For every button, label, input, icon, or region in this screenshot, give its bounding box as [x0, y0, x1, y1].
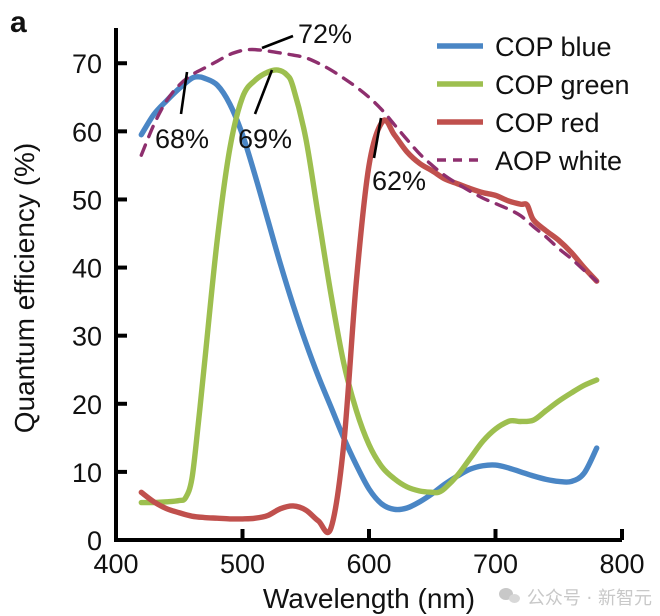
legend-label-aop-white: AOP white [495, 146, 622, 176]
y-tick-label: 70 [72, 49, 102, 79]
legend-label-cop-red: COP red [495, 108, 600, 138]
x-tick-label: 400 [93, 549, 138, 579]
y-tick-label: 30 [72, 322, 102, 352]
wechat-icon [499, 588, 521, 606]
annotation-leader [181, 72, 187, 114]
watermark-text: 公众号 · 新智元 [527, 584, 652, 610]
y-tick-label: 60 [72, 117, 102, 147]
legend-label-cop-green: COP green [495, 70, 630, 100]
x-tick-label: 500 [220, 549, 265, 579]
annotation-label: 69% [238, 124, 292, 154]
legend-layer: COP blueCOP greenCOP redAOP white [437, 32, 630, 176]
annotation-layer: 68%72%69%62% [155, 19, 426, 196]
x-axis-title: Wavelength (nm) [263, 583, 475, 614]
x-tick-label: 600 [346, 549, 391, 579]
annotation-leader [262, 36, 293, 48]
watermark: 公众号 · 新智元 [499, 584, 652, 610]
y-tick-label: 10 [72, 458, 102, 488]
y-tick-label: 40 [72, 254, 102, 284]
annotation-label: 72% [298, 19, 352, 49]
x-tick-label: 800 [599, 549, 644, 579]
annotation-label: 62% [372, 166, 426, 196]
y-axis-title: Quantum efficiency (%) [9, 143, 40, 434]
annotation-label: 68% [155, 124, 209, 154]
y-tick-label: 20 [72, 390, 102, 420]
quantum-efficiency-chart: 010203040506070400500600700800Wavelength… [0, 0, 660, 616]
legend-label-cop-blue: COP blue [495, 32, 612, 62]
y-tick-label: 50 [72, 185, 102, 215]
x-tick-label: 700 [473, 549, 518, 579]
